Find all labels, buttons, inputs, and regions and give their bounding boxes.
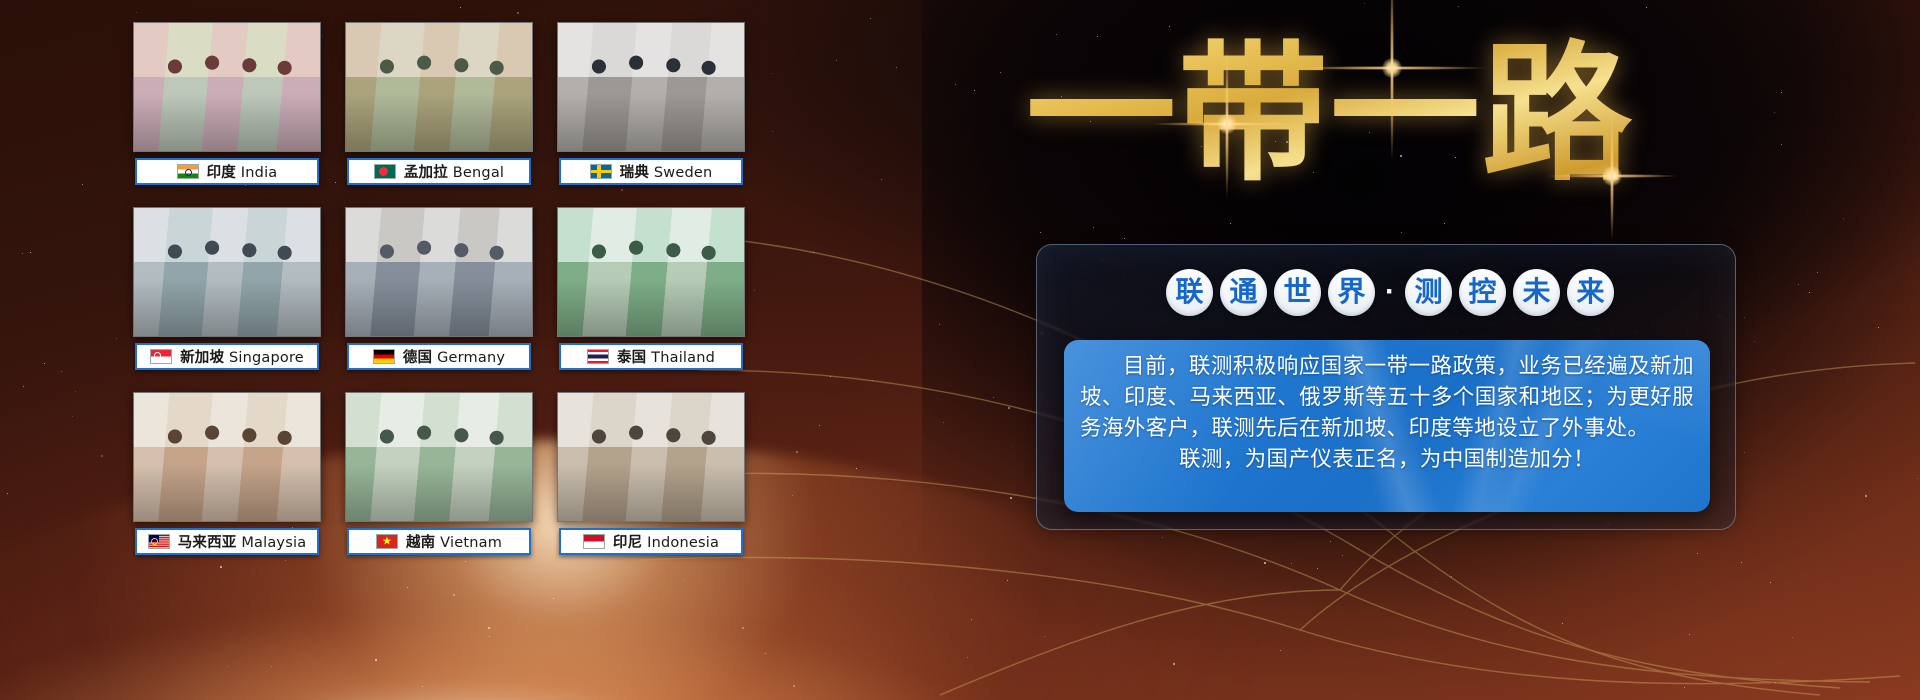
country-name-en: Malaysia — [237, 535, 307, 551]
country-name-cn: 孟加拉 — [404, 165, 448, 181]
photo-sweden[interactable] — [557, 22, 745, 152]
bangladesh-flag-icon — [374, 164, 396, 179]
country-name-en: Bengal — [448, 165, 504, 181]
country-name-en: Thailand — [646, 350, 715, 366]
country-name-en: India — [236, 165, 277, 181]
gallery-item[interactable]: 德国 Germany — [345, 207, 533, 373]
india-flag-icon — [177, 164, 199, 179]
slogan-char: 联 — [1166, 269, 1213, 316]
country-name-cn: 越南 — [406, 535, 435, 551]
gallery-item[interactable]: 孟加拉 Bengal — [345, 22, 533, 188]
country-gallery-grid: 印度 India孟加拉 Bengal瑞典 Sweden新加坡 Singapore… — [133, 22, 745, 558]
description-paragraph-1: 目前，联测积极响应国家一带一路政策，业务已经遍及新加坡、印度、马来西亚、俄罗斯等… — [1080, 351, 1694, 444]
description-paragraph-2: 联测，为国产仪表正名，为中国制造加分！ — [1080, 444, 1694, 475]
photo-indonesia[interactable] — [557, 392, 745, 522]
country-name-en: Singapore — [224, 350, 304, 366]
country-name-cn: 印尼 — [613, 535, 642, 551]
thailand-flag-icon — [587, 349, 609, 364]
photo-image — [134, 23, 320, 151]
country-label: 孟加拉 Bengal — [404, 161, 504, 182]
photo-image — [346, 393, 532, 521]
country-caption[interactable]: 越南 Vietnam — [347, 528, 531, 555]
country-name-cn: 瑞典 — [620, 165, 649, 181]
gallery-item[interactable]: 印度 India — [133, 22, 321, 188]
country-name-cn: 新加坡 — [180, 350, 224, 366]
description-box: 目前，联测积极响应国家一带一路政策，业务已经遍及新加坡、印度、马来西亚、俄罗斯等… — [1064, 340, 1710, 512]
photo-image — [558, 208, 744, 336]
country-name-en: Sweden — [649, 165, 712, 181]
country-caption[interactable]: 瑞典 Sweden — [559, 158, 743, 185]
country-label: 印尼 Indonesia — [613, 531, 719, 552]
gallery-item[interactable]: 新加坡 Singapore — [133, 207, 321, 373]
gallery-item[interactable]: 印尼 Indonesia — [557, 392, 745, 558]
country-label: 越南 Vietnam — [406, 531, 502, 552]
photo-singapore[interactable] — [133, 207, 321, 337]
sweden-flag-icon — [590, 164, 612, 179]
banner-stage: 印度 India孟加拉 Bengal瑞典 Sweden新加坡 Singapore… — [0, 0, 1920, 700]
slogan-char: 未 — [1513, 269, 1560, 316]
photo-image — [346, 23, 532, 151]
gallery-item[interactable]: 越南 Vietnam — [345, 392, 533, 558]
photo-image — [134, 208, 320, 336]
country-label: 马来西亚 Malaysia — [178, 531, 307, 552]
country-caption[interactable]: 孟加拉 Bengal — [347, 158, 531, 185]
country-label: 泰国 Thailand — [617, 346, 715, 367]
malaysia-flag-icon — [148, 534, 170, 549]
slogan-separator-dot: · — [1382, 277, 1398, 307]
company-slogan: 联通世界·测控未来 — [1160, 262, 1620, 322]
photo-india[interactable] — [133, 22, 321, 152]
country-caption[interactable]: 马来西亚 Malaysia — [135, 528, 319, 555]
country-name-en: Vietnam — [435, 535, 502, 551]
calligraphy-text: 一带一路 — [1022, 6, 1642, 221]
singapore-flag-icon — [150, 349, 172, 364]
country-name-en: Indonesia — [642, 535, 719, 551]
gallery-item[interactable]: 瑞典 Sweden — [557, 22, 745, 188]
germany-flag-icon — [373, 349, 395, 364]
vietnam-flag-icon — [376, 534, 398, 549]
belt-and-road-calligraphy: 一带一路 — [1022, 6, 1642, 221]
slogan-char: 界 — [1328, 269, 1375, 316]
photo-bengal[interactable] — [345, 22, 533, 152]
slogan-char: 控 — [1459, 269, 1506, 316]
country-name-cn: 德国 — [403, 350, 432, 366]
country-label: 瑞典 Sweden — [620, 161, 713, 182]
country-caption[interactable]: 泰国 Thailand — [559, 343, 743, 370]
slogan-char: 世 — [1274, 269, 1321, 316]
slogan-char: 来 — [1567, 269, 1614, 316]
photo-vietnam[interactable] — [345, 392, 533, 522]
photo-image — [134, 393, 320, 521]
country-name-cn: 泰国 — [617, 350, 646, 366]
photo-image — [558, 23, 744, 151]
country-name-cn: 印度 — [207, 165, 236, 181]
country-name-cn: 马来西亚 — [178, 535, 237, 551]
photo-image — [558, 393, 744, 521]
photo-germany[interactable] — [345, 207, 533, 337]
country-label: 新加坡 Singapore — [180, 346, 304, 367]
photo-thailand[interactable] — [557, 207, 745, 337]
country-name-en: Germany — [432, 350, 505, 366]
photo-image — [346, 208, 532, 336]
country-caption[interactable]: 印度 India — [135, 158, 319, 185]
indonesia-flag-icon — [583, 534, 605, 549]
country-caption[interactable]: 印尼 Indonesia — [559, 528, 743, 555]
slogan-char: 通 — [1220, 269, 1267, 316]
gallery-item[interactable]: 泰国 Thailand — [557, 207, 745, 373]
country-caption[interactable]: 新加坡 Singapore — [135, 343, 319, 370]
slogan-char: 测 — [1405, 269, 1452, 316]
country-caption[interactable]: 德国 Germany — [347, 343, 531, 370]
gallery-item[interactable]: 马来西亚 Malaysia — [133, 392, 321, 558]
photo-malaysia[interactable] — [133, 392, 321, 522]
country-label: 印度 India — [207, 161, 278, 182]
country-label: 德国 Germany — [403, 346, 505, 367]
